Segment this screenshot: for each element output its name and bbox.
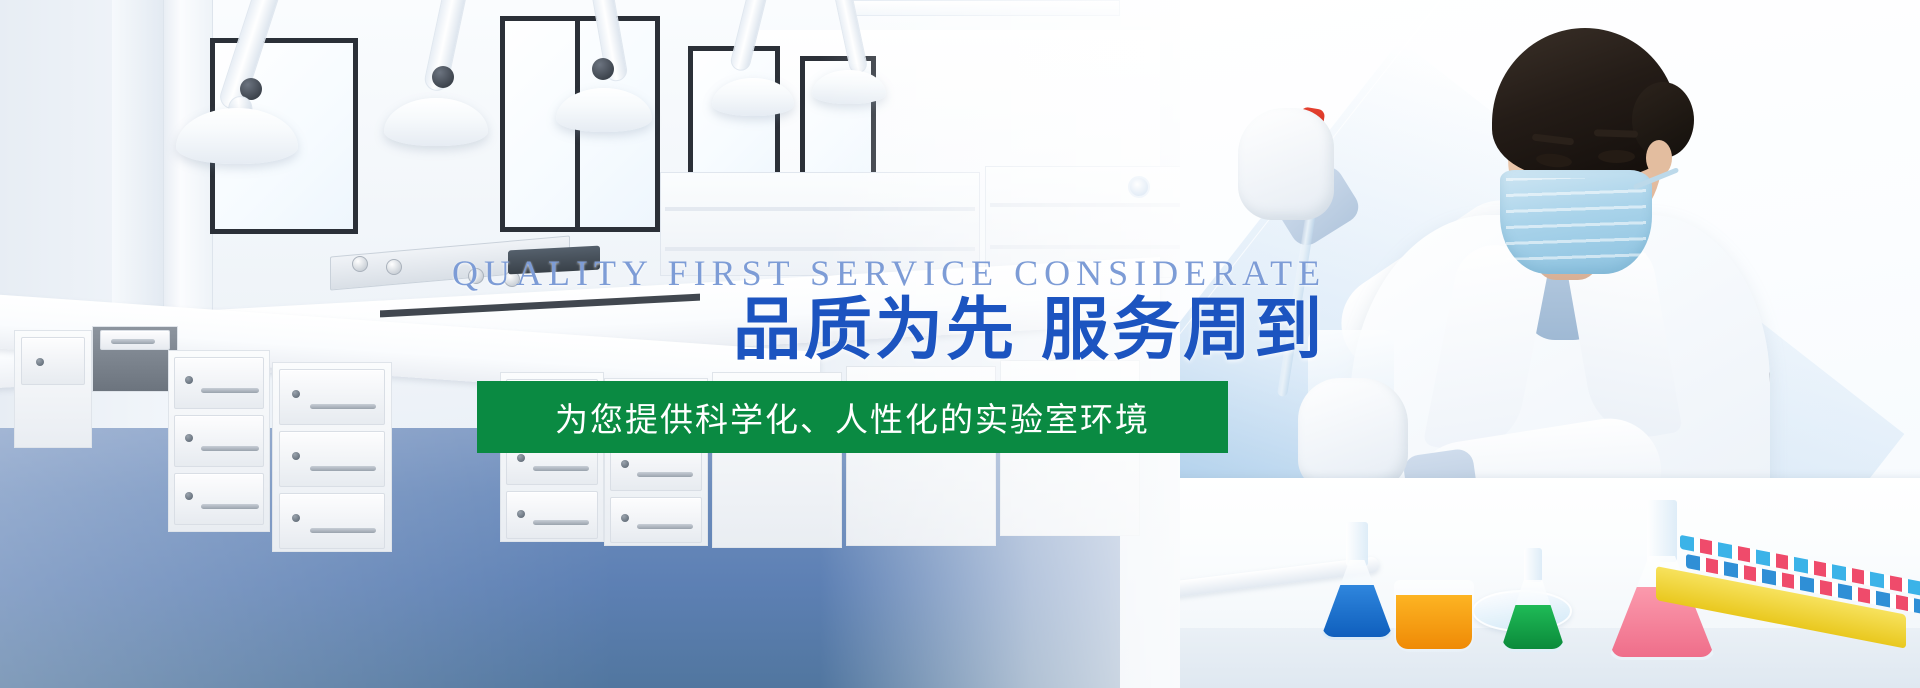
hero-banner: QUALITY FIRST SERVICE CONSIDERATE 品质为先服务… [0, 0, 1920, 688]
subtitle-text: 为您提供科学化、人性化的实验室环境 [555, 393, 1150, 441]
headline-part-2: 服务周到 [1041, 291, 1325, 370]
headline: 品质为先服务周到 [733, 297, 1325, 365]
subtitle-green-bar: 为您提供科学化、人性化的实验室环境 [477, 381, 1228, 453]
banner-text-block: QUALITY FIRST SERVICE CONSIDERATE 品质为先服务… [0, 0, 1920, 688]
english-tagline: QUALITY FIRST SERVICE CONSIDERATE [452, 252, 1326, 294]
headline-part-1: 品质为先 [733, 291, 1017, 370]
